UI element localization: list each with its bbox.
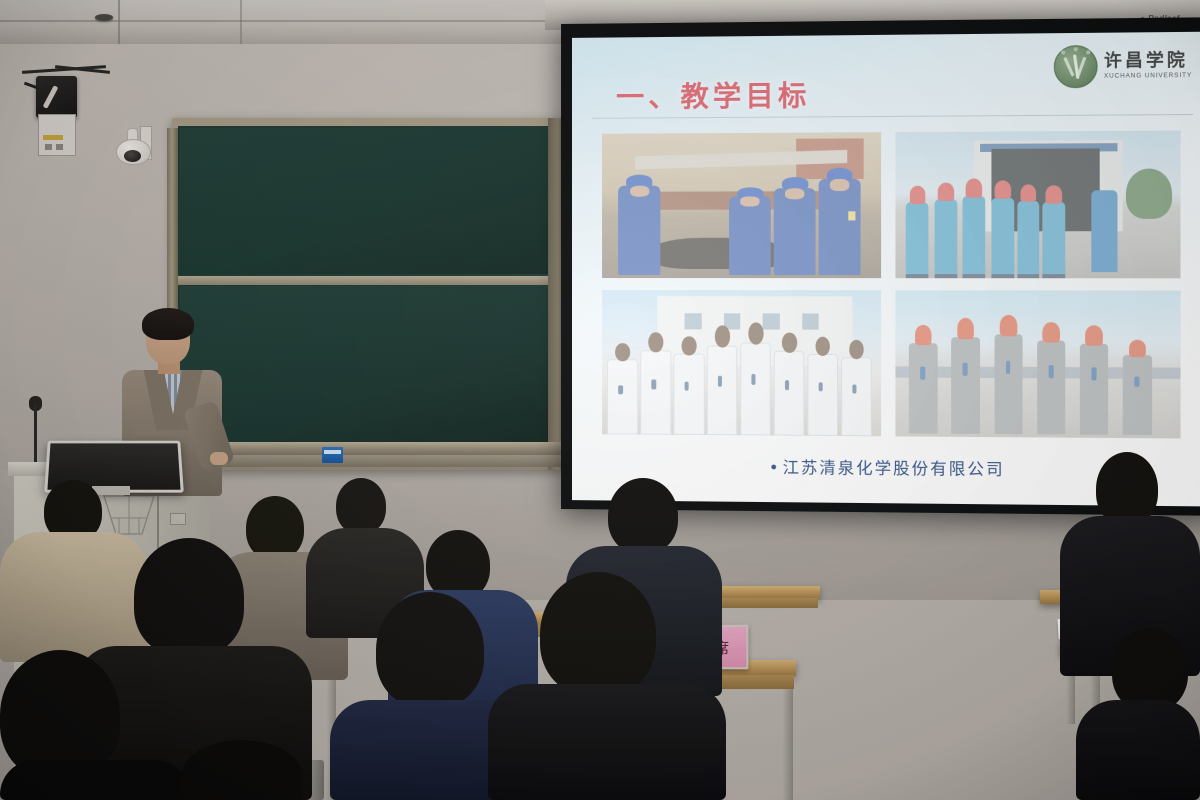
projection-screen: 一、教学目标 许昌学院 XUCHANG UNIVERSITY xyxy=(561,17,1200,516)
chalkboard-lower-panel xyxy=(180,286,557,442)
monitor-stand xyxy=(92,486,130,495)
presenter-hand xyxy=(210,452,228,465)
seal-dot-icon xyxy=(1074,47,1078,51)
window-shape xyxy=(802,314,819,330)
slide-caption-text: 江苏清泉化学股份有限公司 xyxy=(783,458,1005,479)
student-figure xyxy=(808,354,839,436)
presenter-hair xyxy=(142,308,194,340)
worker-figure xyxy=(774,188,816,275)
presentation-slide: 一、教学目标 许昌学院 XUCHANG UNIVERSITY xyxy=(572,32,1200,507)
slide-title: 一、教学目标 xyxy=(616,74,810,116)
student-figure xyxy=(608,359,638,434)
worker-figure xyxy=(991,198,1014,276)
student-figure xyxy=(707,345,738,435)
panel-switch[interactable] xyxy=(45,144,52,150)
worker-figure xyxy=(1037,340,1066,434)
worker-figure xyxy=(1080,344,1109,435)
worker-figure xyxy=(729,197,771,275)
university-seal-icon xyxy=(1054,45,1098,88)
photo-bottom-right xyxy=(895,290,1181,438)
student-figure xyxy=(841,357,872,436)
worker-figure xyxy=(1043,202,1066,276)
warehouse-shape xyxy=(974,140,1123,232)
university-logo: 许昌学院 XUCHANG UNIVERSITY xyxy=(1054,44,1192,88)
panel-label xyxy=(43,135,63,140)
photo-bottom-left xyxy=(602,290,881,436)
rack-shape xyxy=(641,191,825,210)
student-figure xyxy=(674,354,704,435)
horizon-line xyxy=(895,366,1181,379)
worker-figure xyxy=(1017,200,1040,275)
chalkboard-upper-panel xyxy=(180,128,557,274)
ap-logo-icon xyxy=(43,85,59,109)
photo-top-right xyxy=(895,130,1181,278)
window-shape xyxy=(724,313,741,329)
desk-leg xyxy=(782,689,793,800)
bullet-icon: • xyxy=(769,458,781,477)
worker-figure xyxy=(994,334,1022,434)
university-name-cn: 许昌学院 xyxy=(1104,52,1192,70)
worker-figure xyxy=(963,196,986,275)
student-figure xyxy=(774,351,805,435)
slide-photo-grid xyxy=(602,130,1180,438)
building-shape xyxy=(657,296,852,366)
student-figure xyxy=(740,342,771,435)
worker-figure xyxy=(619,186,660,276)
blue-chalk-box[interactable] xyxy=(322,447,343,463)
ceiling-speaker-icon xyxy=(95,14,113,21)
lecture-hall-photo: Redleaf 一、教学目标 许昌学院 XUCHANG UNIVERSITY xyxy=(0,0,1200,800)
seal-dot-icon xyxy=(1086,50,1090,54)
worker-figure xyxy=(906,202,929,275)
seal-dot-icon xyxy=(1061,50,1065,54)
tree-shape xyxy=(1126,169,1172,219)
university-name-en: XUCHANG UNIVERSITY xyxy=(1104,73,1192,80)
instructor-figure xyxy=(1091,190,1117,273)
material-pile-shape xyxy=(652,237,780,269)
panel-switch[interactable] xyxy=(56,144,63,150)
awning-shape xyxy=(980,143,1117,152)
leaf-icon xyxy=(1077,57,1087,77)
worker-figure xyxy=(909,343,937,434)
camera-lens-icon xyxy=(124,150,141,162)
warehouse-door-shape xyxy=(991,149,1100,232)
window-shape xyxy=(685,313,702,329)
worker-figure xyxy=(952,337,980,434)
photo-top-left xyxy=(602,132,881,278)
wall-control-panel[interactable] xyxy=(38,114,76,156)
university-logo-text: 许昌学院 XUCHANG UNIVERSITY xyxy=(1104,52,1192,79)
microphone-stand xyxy=(34,402,37,464)
worker-figure xyxy=(819,179,861,275)
window-shape xyxy=(763,313,780,329)
chalkboard-divider xyxy=(178,276,559,285)
student-figure xyxy=(641,351,671,435)
wireless-access-point xyxy=(36,76,77,118)
lectern-latch[interactable] xyxy=(170,513,186,525)
worker-figure xyxy=(935,199,958,275)
crane-shape xyxy=(796,138,863,179)
worker-figure xyxy=(1123,355,1152,435)
beam-shape xyxy=(635,150,847,170)
